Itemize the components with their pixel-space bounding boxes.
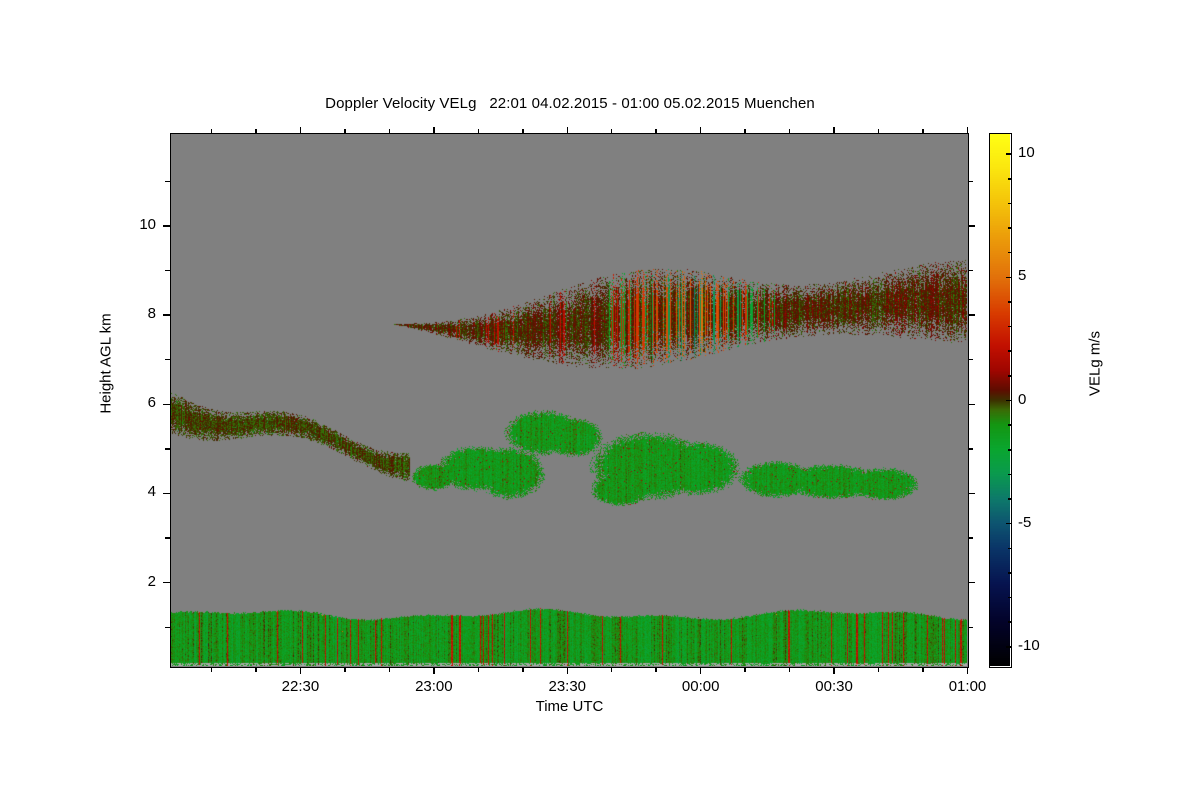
x-axis-tick-major-top bbox=[300, 127, 302, 134]
colorbar-tick-label: 5 bbox=[1018, 267, 1026, 284]
x-axis-tick-minor-top bbox=[389, 129, 391, 134]
colorbar-tick-minor bbox=[1008, 178, 1011, 180]
y-axis-tick-label: 4 bbox=[110, 483, 156, 500]
x-axis-tick-label: 23:30 bbox=[522, 678, 612, 695]
x-axis-tick-minor-top bbox=[878, 129, 880, 134]
y-axis-tick-major-inner bbox=[968, 225, 975, 227]
x-axis-tick-minor bbox=[478, 667, 480, 672]
y-axis-tick-minor bbox=[165, 181, 170, 183]
y-axis-tick-minor-inner bbox=[968, 181, 973, 183]
x-axis-tick-minor bbox=[522, 667, 524, 672]
colorbar-tick-label: 10 bbox=[1018, 144, 1035, 161]
colorbar-title: VELg m/s bbox=[1087, 254, 1104, 474]
colorbar-tick-minor bbox=[1008, 597, 1011, 599]
y-axis-tick-minor bbox=[165, 359, 170, 361]
colorbar-tick-label: 0 bbox=[1018, 391, 1026, 408]
x-axis-tick-minor bbox=[744, 667, 746, 672]
x-axis-tick-minor-top bbox=[255, 129, 257, 134]
x-axis-tick-major-top bbox=[433, 127, 435, 134]
colorbar-tick-minor bbox=[1008, 301, 1011, 303]
y-axis-tick-major-inner bbox=[968, 493, 975, 495]
page-title: Doppler Velocity VELg 22:01 04.02.2015 -… bbox=[0, 95, 1140, 112]
figure-canvas: Doppler Velocity VELg 22:01 04.02.2015 -… bbox=[0, 0, 1200, 800]
x-axis-tick-major bbox=[300, 667, 302, 674]
y-axis-tick-label: 6 bbox=[110, 394, 156, 411]
x-axis-tick-label: 01:00 bbox=[923, 678, 1013, 695]
colorbar-tick-minor bbox=[1008, 252, 1011, 254]
x-axis-tick-major-top bbox=[967, 127, 969, 134]
x-axis-tick-minor-top bbox=[655, 129, 657, 134]
x-axis-tick-minor-top bbox=[611, 129, 613, 134]
y-axis-tick-major-inner bbox=[968, 582, 975, 584]
colorbar-tick-major bbox=[1006, 646, 1011, 648]
colorbar-tick-major bbox=[1006, 523, 1011, 525]
x-axis-tick-major bbox=[567, 667, 569, 674]
x-axis-tick-major-top bbox=[833, 127, 835, 134]
colorbar-tick-minor bbox=[1008, 621, 1011, 623]
colorbar-tick-minor bbox=[1008, 498, 1011, 500]
y-axis-tick-label: 8 bbox=[110, 305, 156, 322]
colorbar-tick-minor bbox=[1008, 474, 1011, 476]
x-axis-title: Time UTC bbox=[170, 698, 969, 715]
y-axis-tick-major bbox=[163, 404, 170, 406]
colorbar-tick-minor bbox=[1008, 548, 1011, 550]
x-axis-tick-minor-top bbox=[522, 129, 524, 134]
x-axis-tick-minor-top bbox=[922, 129, 924, 134]
y-axis-tick-minor-inner bbox=[968, 359, 973, 361]
x-axis-tick-minor bbox=[789, 667, 791, 672]
colorbar-tick-minor bbox=[1008, 203, 1011, 205]
y-axis-tick-minor-inner bbox=[968, 537, 973, 539]
x-axis-tick-label: 23:00 bbox=[389, 678, 479, 695]
y-axis-tick-minor-inner bbox=[968, 627, 973, 629]
x-axis-tick-minor bbox=[655, 667, 657, 672]
y-axis-tick-minor bbox=[165, 270, 170, 272]
colorbar-tick-minor bbox=[1008, 375, 1011, 377]
x-axis-tick-major bbox=[967, 667, 969, 674]
x-axis-tick-minor bbox=[878, 667, 880, 672]
y-axis-tick-label: 10 bbox=[110, 216, 156, 233]
y-axis-tick-minor-inner bbox=[968, 448, 973, 450]
x-axis-tick-minor-top bbox=[789, 129, 791, 134]
y-axis-tick-major bbox=[163, 314, 170, 316]
colorbar-tick-minor bbox=[1008, 449, 1011, 451]
x-axis-tick-major bbox=[833, 667, 835, 674]
x-axis-tick-minor bbox=[255, 667, 257, 672]
x-axis-tick-major bbox=[700, 667, 702, 674]
colorbar-tick-major bbox=[1006, 277, 1011, 279]
y-axis-tick-major-inner bbox=[968, 314, 975, 316]
x-axis-tick-minor-top bbox=[211, 129, 213, 134]
y-axis-tick-major bbox=[163, 582, 170, 584]
plot-axes-area bbox=[170, 133, 969, 668]
colorbar-tick-major bbox=[1006, 153, 1011, 155]
colorbar-tick-label: -10 bbox=[1018, 637, 1040, 654]
y-axis-tick-major bbox=[163, 225, 170, 227]
y-axis-title: Height AGL km bbox=[98, 254, 115, 474]
x-axis-tick-minor-top bbox=[744, 129, 746, 134]
x-axis-tick-minor bbox=[389, 667, 391, 672]
y-axis-tick-minor-inner bbox=[968, 270, 973, 272]
colorbar-tick-minor bbox=[1008, 424, 1011, 426]
y-axis-tick-minor bbox=[165, 448, 170, 450]
y-axis-tick-minor bbox=[165, 627, 170, 629]
x-axis-tick-label: 00:30 bbox=[789, 678, 879, 695]
y-axis-tick-major bbox=[163, 493, 170, 495]
colorbar-tick-minor bbox=[1008, 572, 1011, 574]
colorbar-tick-minor bbox=[1008, 227, 1011, 229]
x-axis-tick-minor-top bbox=[478, 129, 480, 134]
x-axis-tick-label: 00:00 bbox=[656, 678, 746, 695]
x-axis-tick-minor bbox=[344, 667, 346, 672]
x-axis-tick-label: 22:30 bbox=[255, 678, 345, 695]
doppler-velocity-heatmap bbox=[171, 134, 967, 666]
x-axis-tick-major-top bbox=[700, 127, 702, 134]
x-axis-tick-minor-top bbox=[344, 129, 346, 134]
y-axis-tick-label: 2 bbox=[110, 573, 156, 590]
colorbar-tick-minor bbox=[1008, 326, 1011, 328]
x-axis-tick-major-top bbox=[567, 127, 569, 134]
y-axis-tick-major-inner bbox=[968, 404, 975, 406]
y-axis-tick-minor bbox=[165, 537, 170, 539]
colorbar-tick-minor bbox=[1008, 350, 1011, 352]
x-axis-tick-minor bbox=[611, 667, 613, 672]
x-axis-tick-minor bbox=[922, 667, 924, 672]
colorbar-tick-major bbox=[1006, 400, 1011, 402]
x-axis-tick-major bbox=[433, 667, 435, 674]
colorbar-tick-label: -5 bbox=[1018, 514, 1031, 531]
x-axis-tick-minor bbox=[211, 667, 213, 672]
